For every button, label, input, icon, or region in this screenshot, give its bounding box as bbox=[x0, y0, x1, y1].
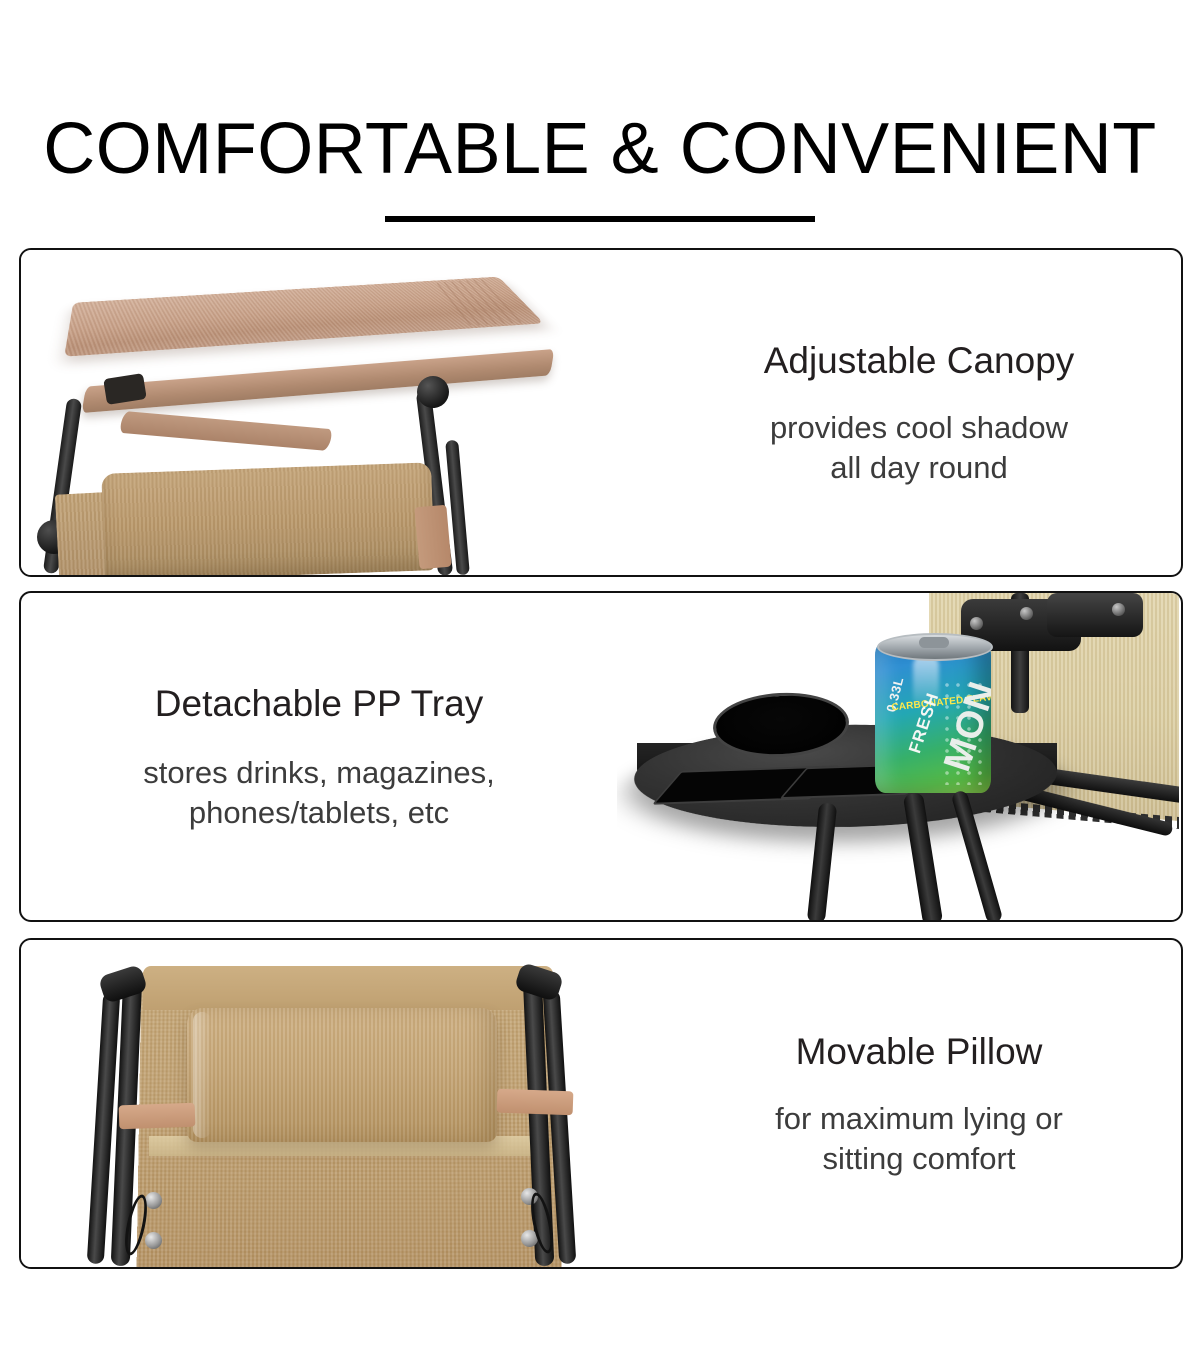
feature-desc-canopy-line2: all day round bbox=[830, 448, 1008, 488]
pillow-strap-right bbox=[497, 1089, 574, 1116]
hinge-bolt-2 bbox=[1020, 607, 1033, 620]
feature-title-canopy: Adjustable Canopy bbox=[764, 338, 1075, 384]
feature-panel-movable-pillow: Tan mesh chair back with movable rolled … bbox=[19, 938, 1183, 1269]
headrest-pillow bbox=[101, 462, 435, 575]
feature-desc-pillow-line1: for maximum lying or bbox=[775, 1099, 1063, 1139]
movable-pillow-photo: Tan mesh chair back with movable rolled … bbox=[21, 940, 661, 1267]
page-title: COMFORTABLE & CONVENIENT bbox=[0, 108, 1200, 190]
feature-title-pillow: Movable Pillow bbox=[796, 1029, 1043, 1075]
title-underline-rule bbox=[385, 216, 815, 222]
pillow-copy-block: Movable Pillow for maximum lying or sitt… bbox=[661, 940, 1177, 1267]
pillow-strap-left bbox=[119, 1103, 196, 1130]
pillow-scene bbox=[21, 940, 661, 1267]
canopy-copy-block: Adjustable Canopy provides cool shadow a… bbox=[661, 250, 1177, 575]
canopy-front-lip bbox=[82, 349, 555, 413]
canopy-scene bbox=[21, 250, 661, 575]
feature-panel-detachable-pp-tray: Detachable PP Tray stores drinks, magazi… bbox=[19, 591, 1183, 922]
can-pull-tab bbox=[919, 637, 949, 648]
feature-desc-tray-line2: phones/tablets, etc bbox=[189, 793, 449, 833]
feature-desc-canopy-line1: provides cool shadow bbox=[770, 408, 1068, 448]
feature-desc-pillow-line2: sitting comfort bbox=[823, 1139, 1016, 1179]
mesh-top-hem bbox=[143, 966, 553, 1010]
canopy-fabric-top bbox=[64, 277, 544, 357]
movable-headrest-pillow bbox=[187, 1008, 497, 1142]
pillow-strap bbox=[414, 505, 451, 570]
header: COMFORTABLE & CONVENIENT bbox=[0, 0, 1200, 240]
recliner-hinge-right bbox=[1047, 593, 1143, 637]
adjustable-canopy-photo: Beige canopy shade mounted on black tubu… bbox=[21, 250, 661, 575]
tray-copy-block: Detachable PP Tray stores drinks, magazi… bbox=[21, 593, 617, 920]
feature-title-tray: Detachable PP Tray bbox=[155, 681, 483, 727]
soft-drink-can: 0.33L CARBONATED FLAVOR SOFT DRINK FRESH… bbox=[875, 641, 991, 793]
hinge-bolt-1 bbox=[970, 617, 983, 630]
product-feature-infographic: COMFORTABLE & CONVENIENT Beige canopy sh… bbox=[0, 0, 1200, 1372]
detachable-pp-tray-photo: 0.33L CARBONATED FLAVOR SOFT DRINK FRESH… bbox=[617, 593, 1179, 920]
canopy-pivot-knuckle bbox=[417, 376, 449, 408]
feature-desc-tray-line1: stores drinks, magazines, bbox=[143, 753, 494, 793]
feature-panel-adjustable-canopy: Beige canopy shade mounted on black tubu… bbox=[19, 248, 1183, 577]
mesh-grommet-left bbox=[145, 1192, 162, 1209]
hinge-bolt-3 bbox=[1112, 603, 1125, 616]
mesh-grommet-left-2 bbox=[145, 1232, 162, 1249]
canopy-under-fold bbox=[119, 411, 334, 451]
tray-scene: 0.33L CARBONATED FLAVOR SOFT DRINK FRESH… bbox=[617, 593, 1179, 920]
